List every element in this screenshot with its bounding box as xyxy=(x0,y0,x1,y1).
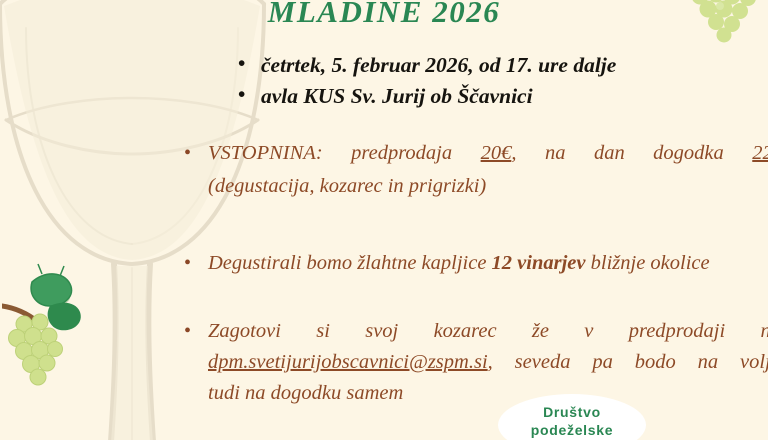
poster-content: MLADINE 2026 četrtek, 5. februar 2026, o… xyxy=(0,0,768,440)
kozarec-line1: Zagotovi si svoj kozarec že v predprodaj… xyxy=(208,316,768,347)
degustacija-post: bližnje okolice xyxy=(586,252,710,274)
event-details-list: četrtek, 5. februar 2026, od 17. ure dal… xyxy=(236,50,616,111)
degustacija-count: 12 vinarjev xyxy=(492,252,586,274)
bullet-vstopnina: VSTOPNINA: predprodaja 20€, na dan dogod… xyxy=(176,138,756,202)
logo-line-1: Društvo xyxy=(498,404,646,422)
degustacija-pre: Degustirali bomo žlahtne kapljice xyxy=(208,252,492,274)
kozarec-line2-rest: , seveda pa bodo na voljo xyxy=(488,351,768,373)
vstopnina-door-price: 22€ xyxy=(752,142,768,164)
logo-text: Društvo podeželske xyxy=(498,404,646,439)
logo-line-2: podeželske xyxy=(498,422,646,440)
vstopnina-label: VSTOPNINA: xyxy=(208,142,323,164)
organizer-logo: Društvo podeželske xyxy=(498,394,646,440)
vstopnina-presale-word: predprodaja xyxy=(351,142,452,164)
list-item: avla KUS Sv. Jurij ob Ščavnici xyxy=(236,81,616,112)
bullet-kozarec: Zagotovi si svoj kozarec že v predprodaj… xyxy=(176,316,754,408)
contact-email-link[interactable]: dpm.svetijurijobscavnici@zspm.si xyxy=(208,351,488,373)
vstopnina-includes: (degustacija, kozarec in prigrizki) xyxy=(208,171,756,202)
page-title: MLADINE 2026 xyxy=(0,0,768,30)
vstopnina-presale-price: 20€ xyxy=(481,142,512,164)
list-item: četrtek, 5. februar 2026, od 17. ure dal… xyxy=(236,50,616,81)
bullet-degustacija: Degustirali bomo žlahtne kapljice 12 vin… xyxy=(176,248,761,279)
kozarec-line3: tudi na dogodku samem xyxy=(208,378,754,409)
vstopnina-mid-text: , na dan dogodka xyxy=(511,142,723,164)
